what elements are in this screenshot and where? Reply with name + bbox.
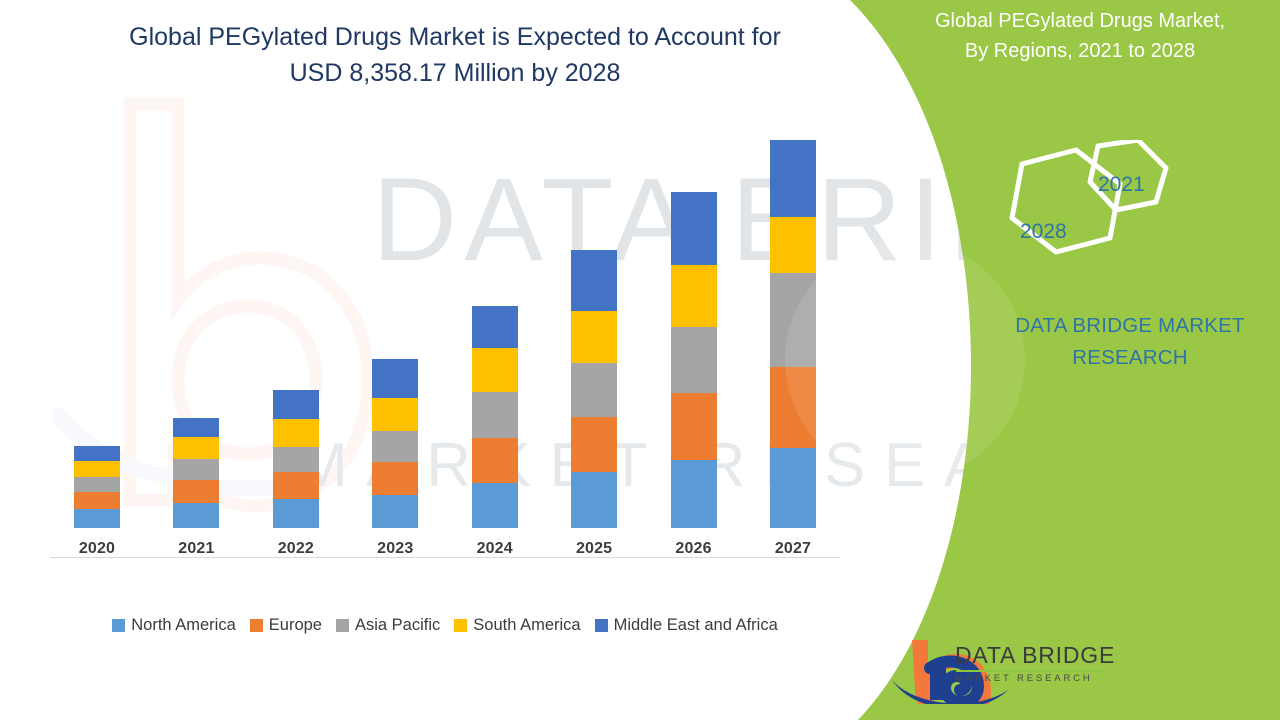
logo-wordmark: DATA BRIDGE MARKET RESEARCH [955,644,1125,683]
panel-title-line-2: By Regions, 2021 to 2028 [890,36,1270,66]
hexagon-2021-label: 2021 [1098,173,1145,197]
brand-panel: Global PEGylated Drugs Market, By Region… [0,0,1280,720]
logo-main-text: DATA BRIDGE [955,644,1125,667]
panel-title: Global PEGylated Drugs Market, By Region… [890,6,1270,66]
brand-name-line-1: DATA BRIDGE MARKET [990,310,1270,342]
logo-divider [956,670,1104,672]
chart-slide: DATA BRIDGE MARKET RESEARCH Global PEGyl… [0,0,1280,720]
hexagon-2028-label: 2028 [1020,220,1067,244]
brand-name: DATA BRIDGE MARKET RESEARCH [990,310,1270,374]
brand-name-line-2: RESEARCH [990,342,1270,374]
logo-sub-text: MARKET RESEARCH [955,674,1125,684]
panel-title-line-1: Global PEGylated Drugs Market, [890,6,1270,36]
hexagon-group-icon [980,140,1200,280]
